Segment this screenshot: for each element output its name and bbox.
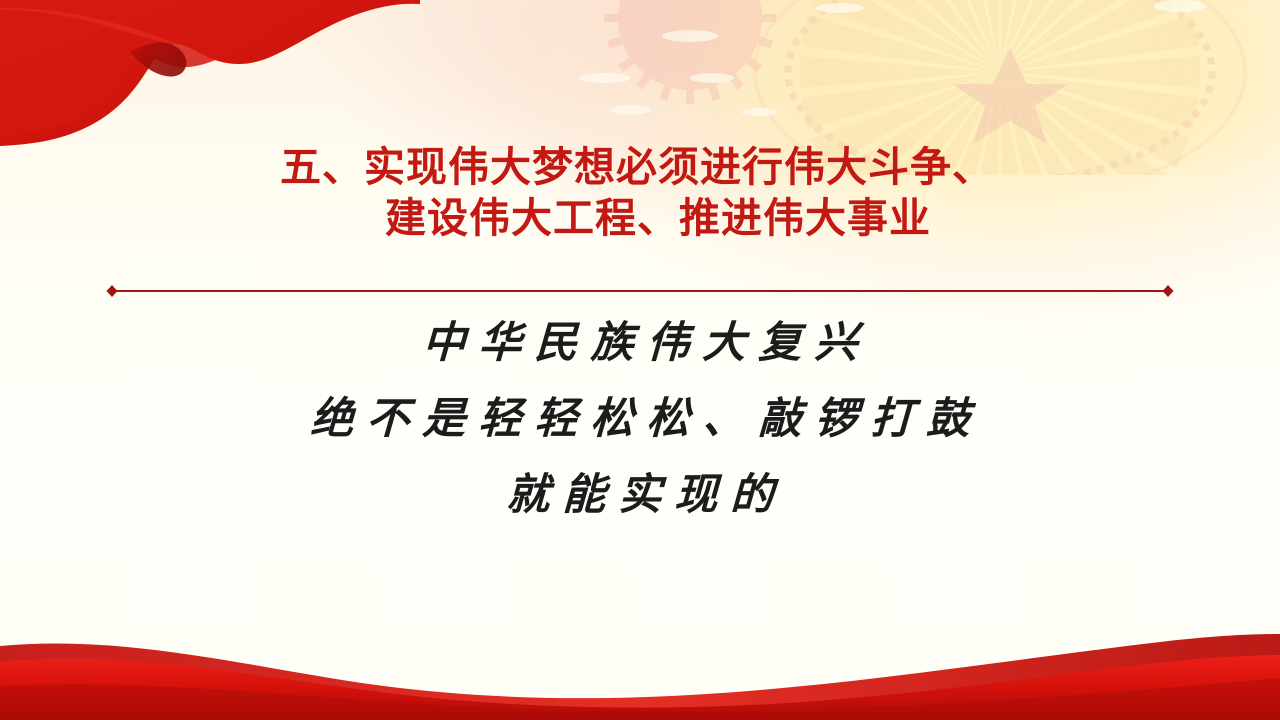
body-line-3: 就能实现的 — [0, 458, 1280, 534]
title-line-2: 建设伟大工程、推进伟大事业 — [0, 193, 1280, 244]
slide-canvas: 五、实现伟大梦想必须进行伟大斗争、 建设伟大工程、推进伟大事业 中华民族伟大复兴… — [0, 0, 1280, 720]
slide-body: 中华民族伟大复兴 绝不是轻轻松松、敲锣打鼓 就能实现的 — [0, 306, 1280, 534]
slide-content: 五、实现伟大梦想必须进行伟大斗争、 建设伟大工程、推进伟大事业 中华民族伟大复兴… — [0, 0, 1280, 720]
body-line-2: 绝不是轻轻松松、敲锣打鼓 — [0, 382, 1280, 458]
slide-title: 五、实现伟大梦想必须进行伟大斗争、 建设伟大工程、推进伟大事业 — [0, 142, 1280, 244]
divider — [105, 284, 1175, 298]
divider-diamond-left — [107, 285, 118, 297]
divider-diamond-right — [1163, 285, 1174, 297]
title-line-1: 五、实现伟大梦想必须进行伟大斗争、 — [0, 142, 1280, 193]
body-line-1: 中华民族伟大复兴 — [0, 306, 1280, 382]
